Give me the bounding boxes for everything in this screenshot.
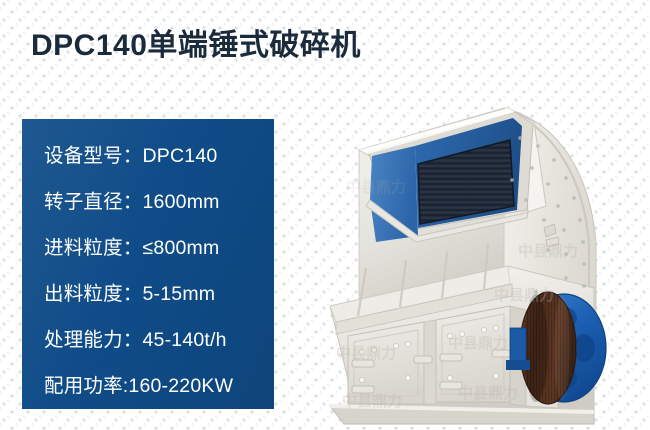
- spec-label: 转子直径：: [44, 191, 143, 213]
- spec-row-capacity: 处理能力：45-140t/h: [22, 327, 274, 353]
- spec-row-feed-size: 进料粒度：≤800mm: [22, 235, 274, 261]
- watermark-text: 中县鼎力: [518, 242, 578, 260]
- watermark-text: 中县鼎力: [336, 344, 396, 362]
- spec-value: 1600mm: [143, 191, 220, 213]
- spec-label: 出料粒度：: [44, 283, 143, 305]
- spec-value: DPC140: [143, 145, 218, 167]
- product-image: 中县鼎力 中县鼎力 中县鼎力 中县鼎力 中县鼎力 中县鼎力 中县鼎力: [296, 60, 650, 430]
- product-banner: DPC140单端锤式破碎机 设备型号：DPC140 转子直径：1600mm 进料…: [0, 0, 650, 430]
- watermark-text: 中县鼎力: [458, 384, 518, 402]
- spec-label: 配用功率:: [44, 375, 128, 397]
- spec-value: 160-220KW: [128, 375, 233, 397]
- spec-value: 5-15mm: [143, 283, 216, 305]
- watermark-text: 中县鼎力: [448, 334, 508, 352]
- spec-label: 进料粒度：: [44, 237, 143, 259]
- watermark-text: 中县鼎力: [494, 286, 554, 304]
- watermark-text: 中县鼎力: [346, 178, 406, 196]
- watermark-text: 中县鼎力: [342, 392, 402, 410]
- spec-row-rotor-diameter: 转子直径：1600mm: [22, 189, 274, 215]
- spec-row-output-size: 出料粒度：5-15mm: [22, 281, 274, 307]
- spec-label: 处理能力：: [44, 329, 143, 351]
- spec-value: ≤800mm: [143, 237, 220, 259]
- spec-row-model: 设备型号：DPC140: [22, 143, 274, 169]
- spec-row-power: 配用功率:160-220KW: [22, 373, 274, 399]
- spec-value: 45-140t/h: [143, 329, 227, 351]
- specification-panel: 设备型号：DPC140 转子直径：1600mm 进料粒度：≤800mm 出料粒度…: [22, 119, 274, 409]
- flywheel: [514, 292, 606, 404]
- spec-label: 设备型号：: [44, 145, 143, 167]
